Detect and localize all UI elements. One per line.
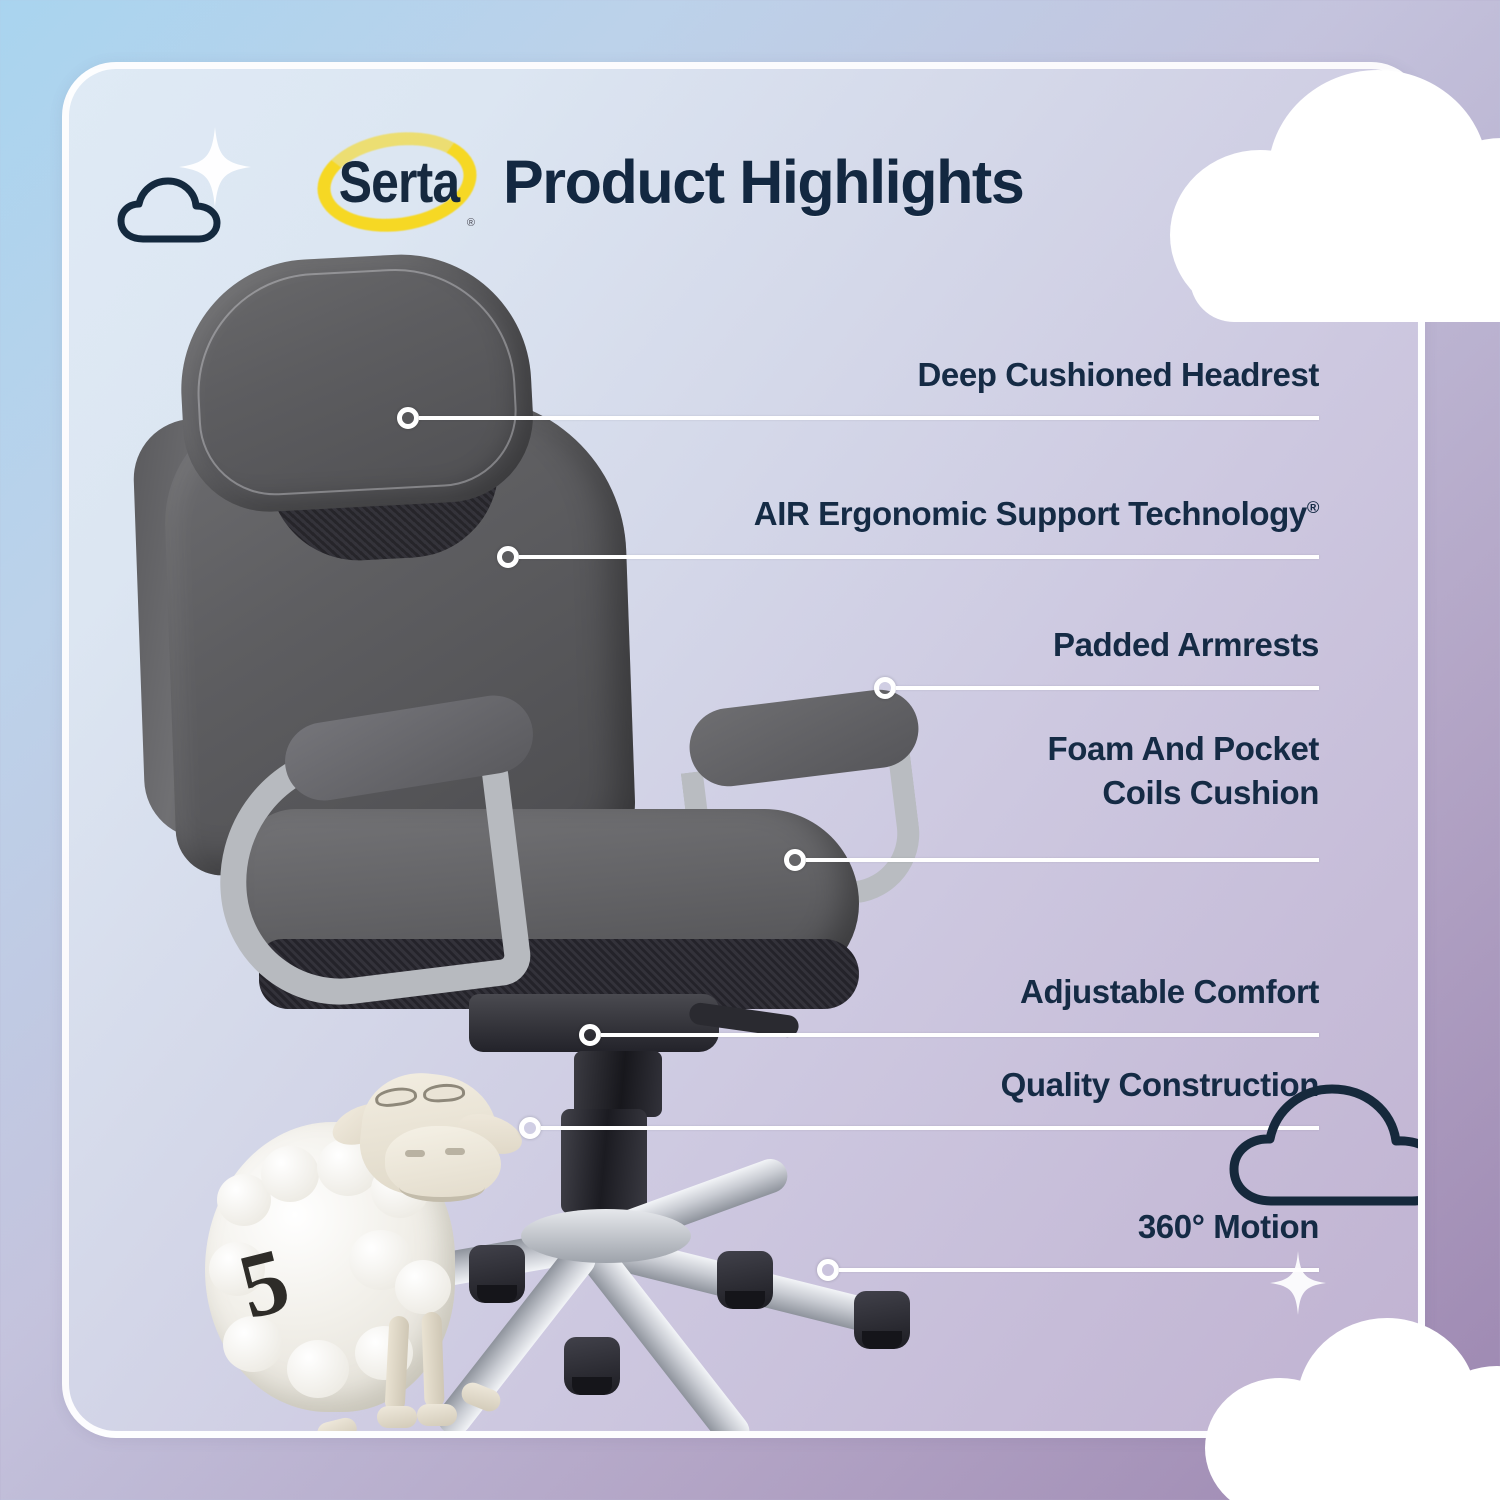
cloud-bottom-right-decoration — [1205, 1318, 1500, 1500]
chair-headrest — [175, 248, 538, 516]
sheep-leg — [385, 1316, 410, 1413]
serta-sheep-mascot: 5 — [199, 1054, 529, 1438]
chair-caster — [564, 1337, 620, 1395]
callout-marker — [519, 1117, 541, 1139]
callout-leader-line — [896, 686, 1319, 690]
sheep-hoof — [377, 1406, 417, 1428]
callout-marker — [874, 677, 896, 699]
cloud-top-right-decoration — [1150, 60, 1500, 320]
chair-caster — [717, 1251, 773, 1309]
registered-mark: ® — [1307, 498, 1319, 517]
callout-marker — [817, 1259, 839, 1281]
sheep-hoof — [417, 1404, 457, 1426]
callout-label-text: AIR Ergonomic Support Technology — [754, 495, 1307, 532]
sheep-leg — [421, 1312, 444, 1409]
chair-caster — [854, 1291, 910, 1349]
callout-marker — [579, 1024, 601, 1046]
callout-label: AIR Ergonomic Support Technology® — [629, 496, 1319, 533]
callout-leader-line — [601, 1033, 1319, 1037]
sparkle-icon — [1270, 1251, 1326, 1315]
chair-base-hub — [521, 1209, 691, 1263]
chair-gas-cylinder — [561, 1109, 647, 1214]
callout-label: Deep Cushioned Headrest — [719, 357, 1319, 394]
sheep-hoof — [458, 1379, 503, 1414]
sheep-mouth — [399, 1172, 485, 1202]
callout-marker — [397, 407, 419, 429]
callout-label: Padded Armrests — [819, 627, 1319, 664]
callout-label-line2: Coils Cushion — [819, 775, 1319, 812]
callout-leader-line — [839, 1268, 1319, 1272]
callout-leader-line — [806, 858, 1319, 862]
callout-leader-line — [419, 416, 1319, 420]
callout-marker — [497, 546, 519, 568]
callout-leader-line — [519, 555, 1319, 559]
callout-label-line1: Foam And Pocket — [819, 731, 1319, 768]
callout-label: 360° Motion — [819, 1209, 1319, 1246]
callout-leader-line — [541, 1126, 1319, 1130]
cloud-outline-icon — [1226, 1069, 1425, 1214]
callout-label: Adjustable Comfort — [819, 974, 1319, 1011]
callout-marker — [784, 849, 806, 871]
sheep-hoof — [315, 1415, 359, 1438]
chair-gas-cylinder-top — [574, 1051, 662, 1117]
